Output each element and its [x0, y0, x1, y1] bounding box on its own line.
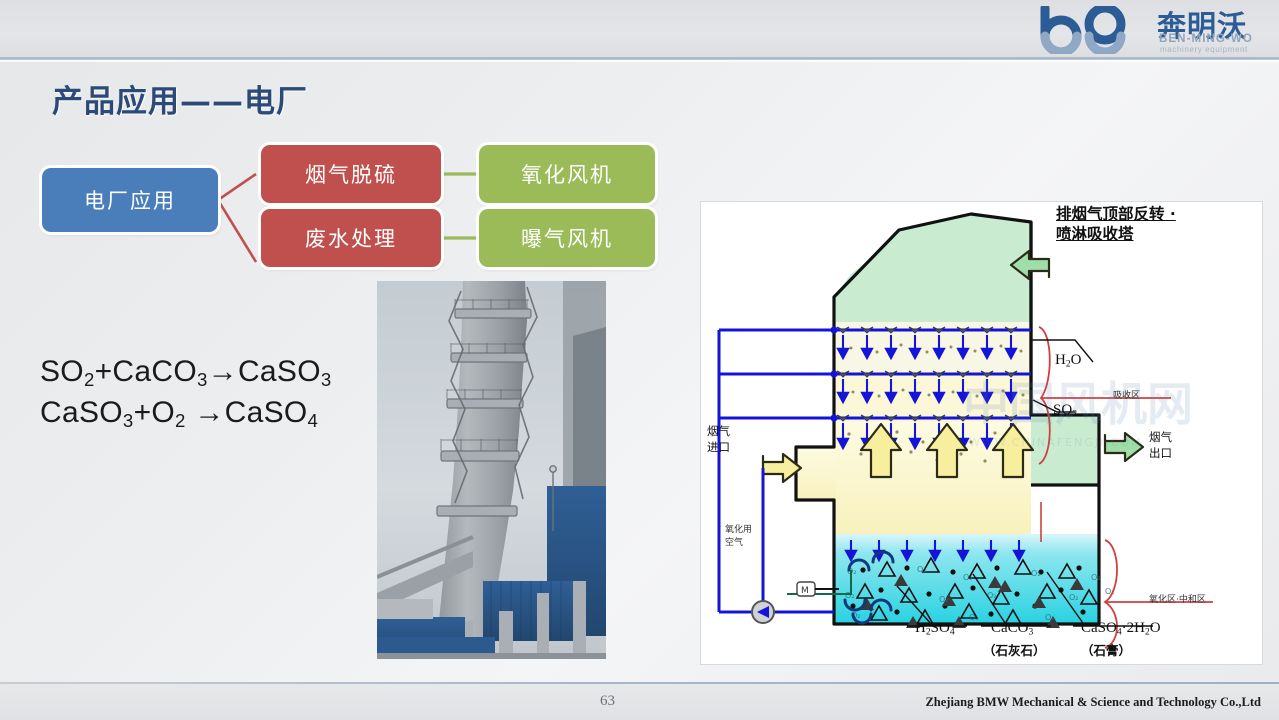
plant-photo [377, 281, 606, 659]
flow-box-aeration-blower[interactable]: 曝气风机 [479, 209, 655, 267]
flow-box-label: 废水处理 [305, 223, 397, 253]
flow-box-oxidation-blower[interactable]: 氧化风机 [479, 145, 655, 203]
footer-company-name: Zhejiang BMW Mechanical & Science and Te… [925, 695, 1261, 710]
flow-box-label: 电厂应用 [84, 185, 176, 215]
label-oxidation-air-line1: 氧化用 [725, 524, 752, 537]
svg-text:O₂: O₂ [1069, 593, 1079, 602]
logo-pinyin: BEN-MING-WO [1159, 33, 1253, 45]
svg-text:O₂: O₂ [845, 591, 855, 600]
diagram-title: 排烟气顶部反转 · 喷淋吸收塔 [1056, 204, 1176, 244]
page-number: 63 [600, 693, 615, 710]
svg-text:O₂: O₂ [1045, 613, 1055, 622]
flow-box-wastewater-treatment[interactable]: 废水处理 [261, 209, 441, 267]
label-oxidation-neutralization-zone: 氧化区·中和区 [1149, 592, 1206, 605]
logo-tagline: machinery equipment [1160, 45, 1248, 54]
svg-text:O₂: O₂ [939, 595, 949, 604]
svg-text:WWW.CHINAFENGJI.COM: WWW.CHINAFENGJI.COM [969, 436, 1143, 449]
label-caco3: CaCO3 [991, 620, 1033, 637]
label-oxidation-air: 氧化用 空气 [725, 524, 752, 550]
label-h2so4: H2SO4 [915, 620, 955, 637]
label-gas-outlet-line1: 烟气 [1149, 430, 1172, 446]
company-logo: 奔明沃 BEN-MING-WO machinery equipment [1029, 2, 1269, 56]
chemical-equations: SO2+CaCO3→CaSO3 CaSO3+O2 →CaSO4 [40, 352, 332, 434]
label-absorption-zone: 吸收区 [1113, 388, 1140, 401]
svg-text:O₂: O₂ [969, 613, 979, 622]
svg-text:M: M [801, 586, 809, 596]
diagram-title-line2: 喷淋吸收塔 [1056, 224, 1176, 244]
equation-line-2: CaSO3+O2 →CaSO4 [40, 393, 332, 434]
label-caso4-chinese: （石膏） [1081, 640, 1131, 659]
label-gas-outlet-line2: 出口 [1149, 446, 1172, 462]
flow-chart: 电厂应用 烟气脱硫 废水处理 氧化风机 曝气风机 [0, 0, 700, 290]
label-gas-inlet: 烟气 进口 [707, 424, 730, 455]
flow-box-power-plant-application[interactable]: 电厂应用 [42, 168, 218, 232]
slide-root: 奔明沃 BEN-MING-WO machinery equipment 产品应用… [0, 0, 1279, 720]
flow-box-label: 烟气脱硫 [305, 159, 397, 189]
label-so2: SO2 [1053, 402, 1077, 419]
svg-text:O₂: O₂ [963, 573, 973, 582]
label-h2o: H2O [1055, 352, 1081, 369]
svg-text:O₂: O₂ [1091, 573, 1101, 582]
svg-text:O₂: O₂ [917, 565, 927, 574]
label-caco3-chinese: （石灰石） [983, 640, 1046, 659]
flow-box-label: 曝气风机 [521, 223, 613, 253]
bo-monogram-icon [1037, 6, 1155, 54]
label-gas-inlet-line1: 烟气 [707, 424, 730, 440]
plant-photo-illustration [377, 281, 606, 659]
svg-text:O₂: O₂ [1031, 569, 1041, 578]
label-oxidation-air-line2: 空气 [725, 537, 752, 550]
flow-box-flue-gas-desulfurization[interactable]: 烟气脱硫 [261, 145, 441, 203]
svg-text:中国风机网: 中国风机网 [963, 377, 1193, 431]
label-gas-inlet-line2: 进口 [707, 440, 730, 456]
label-caso4: CaSO4·2H2O [1081, 620, 1161, 637]
equation-line-1: SO2+CaCO3→CaSO3 [40, 352, 332, 393]
flow-box-label: 氧化风机 [521, 159, 613, 189]
diagram-title-line1: 排烟气顶部反转 · [1056, 204, 1176, 224]
absorption-tower-diagram: O₂O₂O₂ O₂O₂ O₂O₂O₂ O₂ O₂O₂O₂ O₂ [700, 201, 1263, 665]
label-gas-outlet: 烟气 出口 [1149, 430, 1172, 461]
